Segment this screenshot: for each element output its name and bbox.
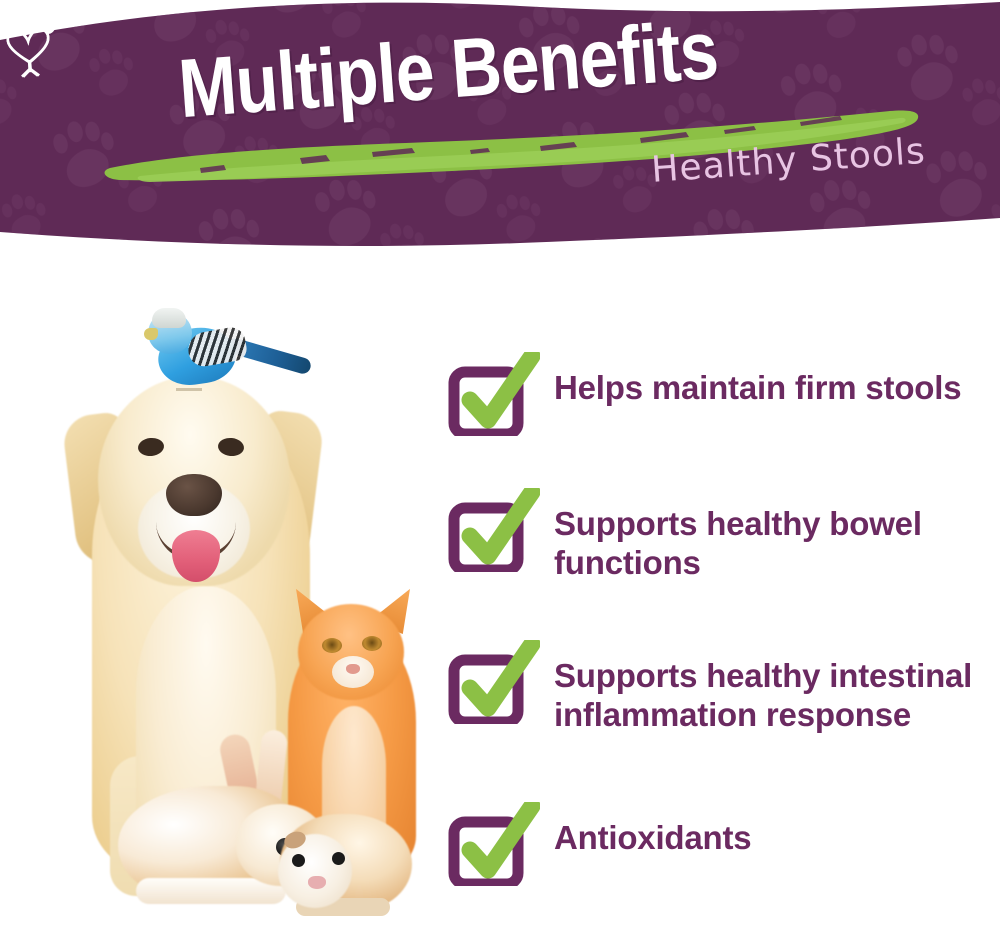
checked-checkbox-icon	[448, 640, 540, 724]
header-banner: Multiple Benefits Healthy Stools	[0, 0, 1000, 252]
cat-eye-right	[362, 636, 382, 651]
benefit-label: Helps maintain firm stools	[554, 368, 961, 407]
dog-nose	[166, 474, 222, 516]
benefit-item-antioxidants: Antioxidants	[448, 802, 751, 886]
pets-photo	[40, 286, 440, 928]
product-benefits-infographic: Multiple Benefits Healthy Stools	[0, 0, 1000, 928]
benefit-label: Antioxidants	[554, 818, 751, 857]
cat-eye-left	[322, 638, 342, 653]
benefit-item-firm-stools: Helps maintain firm stools	[448, 352, 961, 436]
cat-nose	[346, 664, 360, 674]
heart-paw-icon	[0, 0, 64, 80]
bird-beak	[144, 328, 158, 340]
bird-cap	[152, 308, 186, 328]
benefit-label: Supports healthy intestinal inflammation…	[554, 656, 996, 734]
guinea-pig-eye-left	[292, 854, 305, 867]
benefit-label: Supports healthy bowel functions	[554, 504, 996, 582]
checked-checkbox-icon	[448, 488, 540, 572]
benefit-item-intestinal-inflammation: Supports healthy intestinal inflammation…	[448, 640, 996, 734]
guinea-pig-eye-right	[332, 852, 345, 865]
checked-checkbox-icon	[448, 352, 540, 436]
checked-checkbox-icon	[448, 802, 540, 886]
benefit-item-bowel-functions: Supports healthy bowel functions	[448, 488, 996, 582]
bird-feet	[176, 378, 202, 391]
guinea-pig-nose	[308, 876, 326, 889]
